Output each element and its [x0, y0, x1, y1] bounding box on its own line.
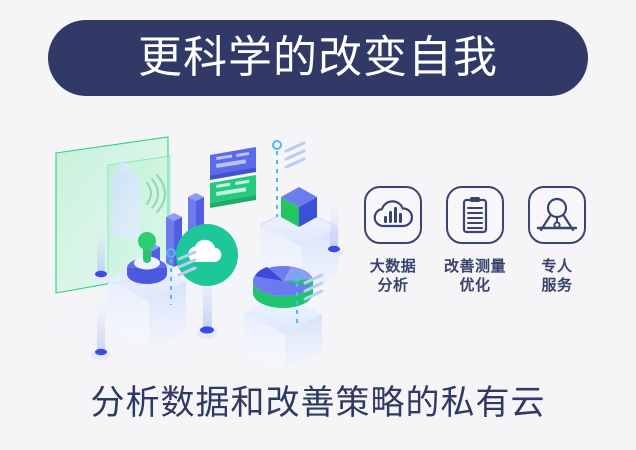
feature-label-line1: 改善测量: [444, 257, 506, 276]
clipboard-lines-icon: [458, 195, 492, 235]
cloud-bar-chart-icon-frame: [364, 186, 422, 244]
feature-label-line1: 大数据: [370, 257, 417, 276]
tag-label-blue: [210, 147, 256, 180]
header-pill: 更科学的改变自我: [48, 20, 588, 96]
support-agent-icon-frame: [528, 186, 586, 244]
page-title: 更科学的改变自我: [138, 36, 498, 80]
feature-label: 专人 服务: [541, 257, 572, 295]
pie-chart-3d: [253, 266, 313, 308]
feature-label: 改善测量 优化: [444, 257, 506, 295]
feature-list: 大数据 分析 改善测量: [352, 186, 600, 295]
bottle-silhouette: [111, 163, 141, 238]
isometric-illustration: [48, 125, 348, 370]
feature-label-line1: 专人: [541, 257, 572, 276]
feature-item-measurement-optimization[interactable]: 改善测量 优化: [434, 186, 516, 295]
feature-label-line2: 分析: [370, 276, 417, 295]
tagline: 分析数据和改善策略的私有云: [0, 385, 636, 422]
feature-item-dedicated-service[interactable]: 专人 服务: [516, 186, 598, 295]
support-agent-icon: [536, 196, 578, 234]
feature-label-line2: 优化: [444, 276, 506, 295]
clipboard-lines-icon-frame: [446, 186, 504, 244]
feature-item-big-data-analysis[interactable]: 大数据 分析: [352, 186, 434, 295]
feature-label: 大数据 分析: [370, 257, 417, 295]
cloud-bar-chart-icon: [373, 198, 413, 232]
banner-canvas: 更科学的改变自我: [0, 0, 636, 450]
tag-label-green: [210, 175, 256, 208]
feature-label-line2: 服务: [541, 276, 572, 295]
